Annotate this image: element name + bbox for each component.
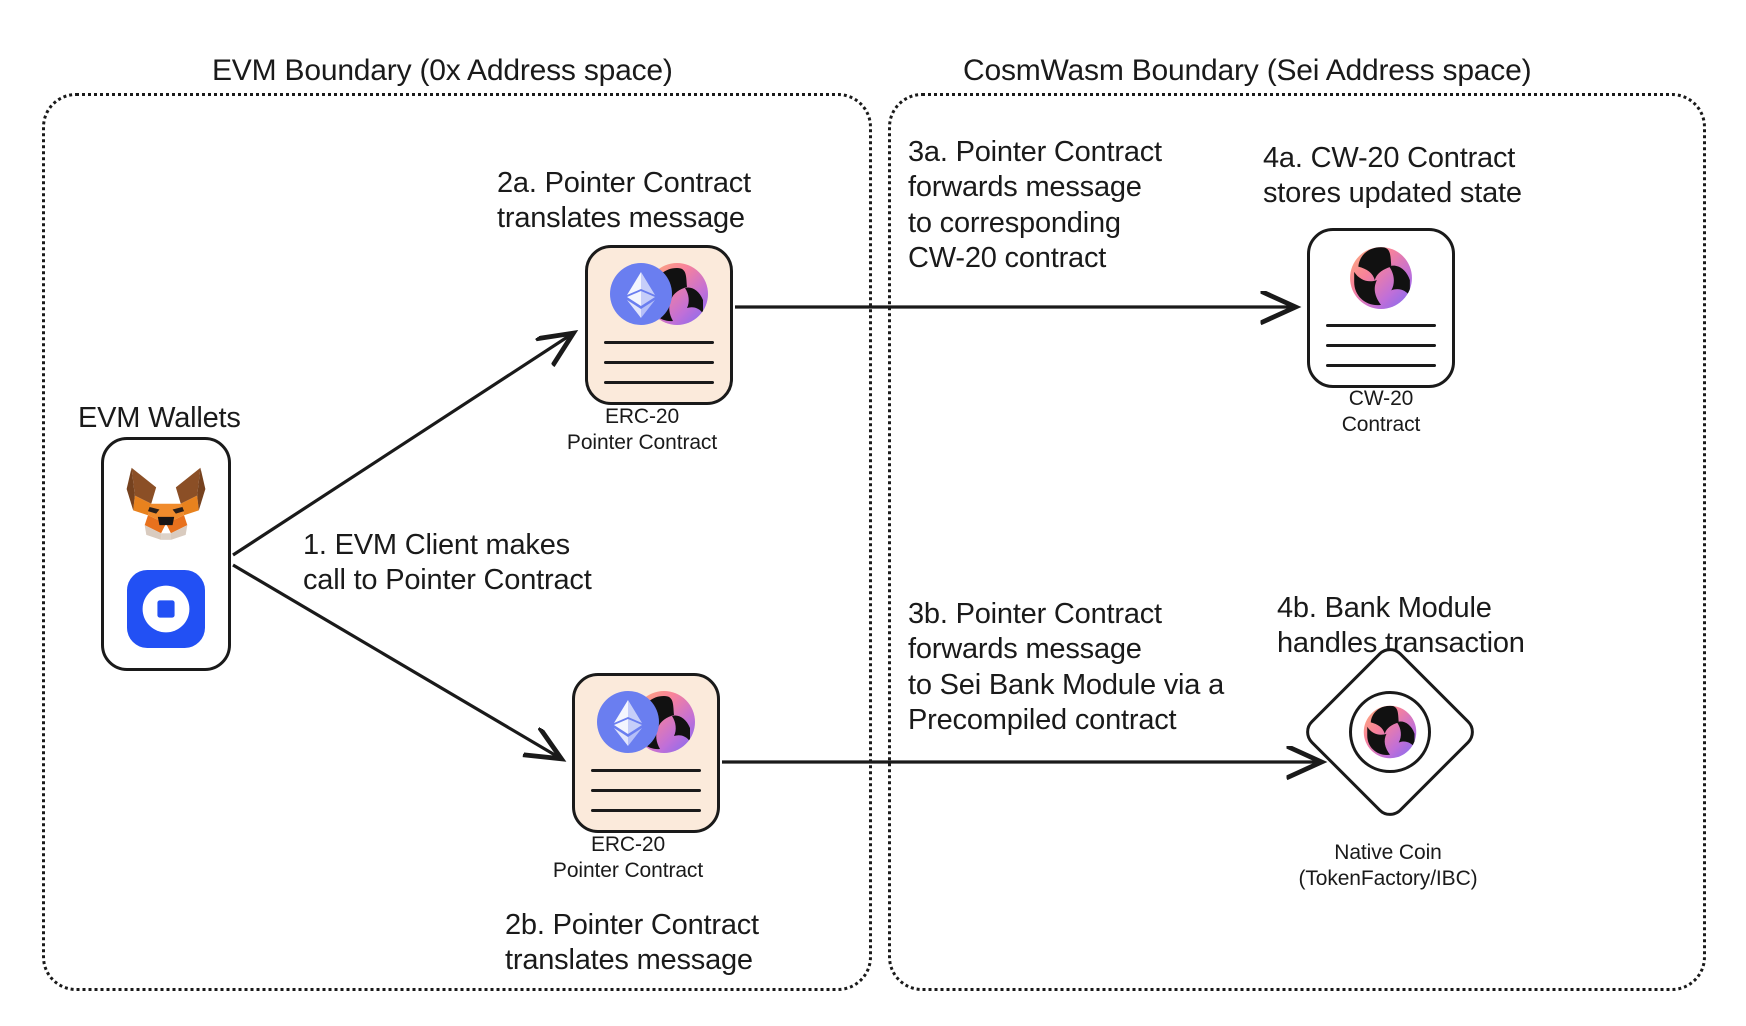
document-lines [1326, 324, 1436, 384]
cosmwasm-boundary-title: CosmWasm Boundary (Sei Address space) [963, 54, 1531, 88]
document-lines [591, 769, 701, 829]
ethereum-sei-combined-logo-icon [594, 690, 698, 754]
erc20-pointer-contract-card-top[interactable] [585, 245, 733, 405]
sei-logo-icon [1348, 245, 1414, 311]
erc20-pointer-contract-card-bottom[interactable] [572, 673, 720, 833]
diagram-canvas: EVM Boundary (0x Address space) CosmWasm… [0, 0, 1746, 1026]
step-label-3a: 3a. Pointer Contract forwards message to… [908, 135, 1162, 277]
step-label-2b: 2b. Pointer Contract translates message [505, 908, 759, 979]
step-label-2a: 2a. Pointer Contract translates message [497, 166, 751, 237]
erc20-pointer-contract-caption-bottom: ERC-20 Pointer Contract [513, 832, 743, 885]
erc20-pointer-contract-caption-top: ERC-20 Pointer Contract [527, 404, 757, 457]
step-label-3b: 3b. Pointer Contract forwards message to… [908, 597, 1224, 739]
ethereum-sei-combined-logo-icon [607, 262, 711, 326]
evm-wallets-container[interactable] [101, 437, 231, 671]
evm-boundary-title: EVM Boundary (0x Address space) [212, 54, 673, 88]
sei-logo-icon [1362, 704, 1418, 760]
cw20-contract-caption: CW-20 Contract [1271, 386, 1491, 439]
native-coin-caption: Native Coin (TokenFactory/IBC) [1258, 840, 1518, 893]
step-label-4a: 4a. CW-20 Contract stores updated state [1263, 141, 1522, 212]
metamask-fox-icon [125, 466, 207, 544]
coinbase-wallet-icon [127, 570, 205, 648]
step-label-4b: 4b. Bank Module handles transaction [1277, 591, 1525, 662]
step-label-1: 1. EVM Client makes call to Pointer Cont… [303, 528, 592, 599]
evm-wallets-label: EVM Wallets [78, 402, 241, 435]
cw20-contract-card[interactable] [1307, 228, 1455, 388]
document-lines [604, 341, 714, 401]
